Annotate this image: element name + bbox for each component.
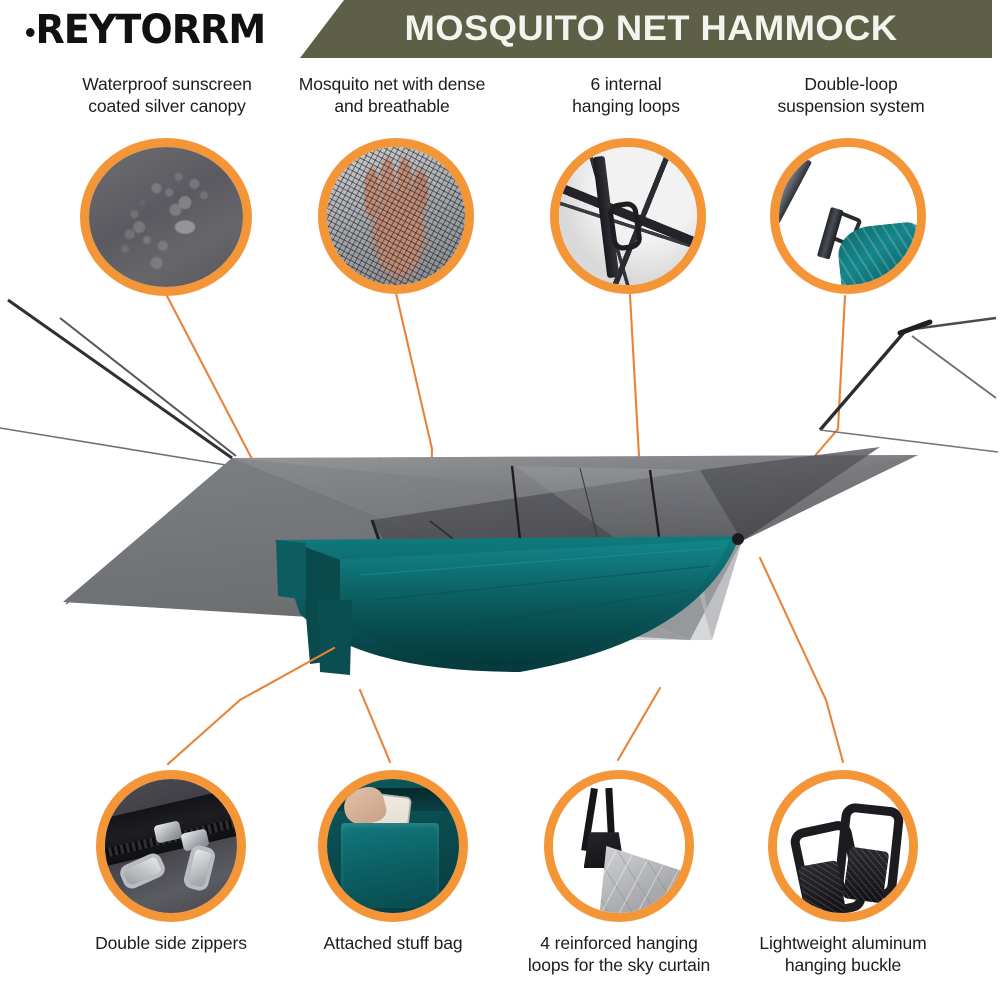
callout-label-line2: and breathable <box>272 95 512 117</box>
pointer-line-reinforced-hanging-loops <box>618 688 660 760</box>
callout-label-line2: suspension system <box>742 95 960 117</box>
pointer-line-double-loop-suspension <box>742 296 845 541</box>
mosquito-net <box>372 447 880 640</box>
callout-image-aluminum-buckle[interactable] <box>768 770 918 922</box>
stuff-bag-icon <box>325 777 461 915</box>
callout-label-internal-loops: 6 internal hanging loops <box>528 73 724 117</box>
callout-image-reinforced-hanging-loops[interactable] <box>544 770 694 922</box>
pointer-line-group-bottom <box>168 558 843 764</box>
pointer-line-mosquito-net <box>396 293 432 521</box>
callout-image-attached-stuff-bag[interactable] <box>318 770 468 922</box>
reinforced-hanging-loops-photo <box>551 777 687 915</box>
pointer-line-waterproof-canopy <box>167 296 253 461</box>
callout-label-line1: Double-loop <box>742 73 960 95</box>
pointer-line-internal-loops <box>630 295 640 474</box>
callout-image-internal-loops[interactable] <box>550 138 706 294</box>
suspension-strap-icon <box>777 145 919 287</box>
callout-image-double-loop-suspension[interactable] <box>770 138 926 294</box>
callout-label-aluminum-buckle: Lightweight aluminum hanging buckle <box>730 932 956 976</box>
tarp-loop-icon <box>551 777 687 915</box>
internal-loop-icon <box>557 145 699 287</box>
callout-label-line1: Attached stuff bag <box>282 932 504 954</box>
tarp-corner-fabric <box>600 846 687 915</box>
hammock-body <box>275 533 744 675</box>
water-droplets-icon <box>87 145 245 289</box>
pointer-line-double-side-zippers <box>168 648 334 764</box>
header: REYTORRM MOSQUITO NET HAMMOCK <box>0 0 1000 62</box>
callout-label-line1: 4 reinforced hanging <box>504 932 734 954</box>
mesh-hand-icon <box>325 145 467 287</box>
guy-lines <box>0 300 998 604</box>
internal-loops-photo <box>557 145 699 287</box>
double-side-zippers-photo <box>103 777 239 915</box>
logo-dot-icon <box>26 28 35 37</box>
callout-image-double-side-zippers[interactable] <box>96 770 246 922</box>
callout-label-line1: Waterproof sunscreen <box>52 73 282 95</box>
callout-image-waterproof-canopy[interactable] <box>80 138 252 296</box>
webbing-right <box>842 846 889 903</box>
attached-stuff-bag-photo <box>325 777 461 915</box>
callout-label-reinforced-hanging-loops: 4 reinforced hanging loops for the sky c… <box>504 932 734 976</box>
callout-label-line2: coated silver canopy <box>52 95 282 117</box>
aluminum-buckle-photo <box>775 777 911 915</box>
brand-logo: REYTORRM <box>26 8 292 52</box>
waterproof-canopy-photo <box>87 145 245 289</box>
zipper-icon <box>103 777 239 915</box>
suspension-strap-upper <box>777 154 812 240</box>
callout-label-line1: 6 internal <box>528 73 724 95</box>
callout-label-line1: Lightweight aluminum <box>730 932 956 954</box>
pointer-line-group-top <box>167 293 845 541</box>
loop-hook <box>606 200 642 252</box>
callout-label-line1: Mosquito net with dense <box>272 73 512 95</box>
mosquito-net-photo <box>325 145 467 287</box>
page-title: MOSQUITO NET HAMMOCK <box>323 0 978 58</box>
callout-label-waterproof-canopy: Waterproof sunscreen coated silver canop… <box>52 73 282 117</box>
double-loop-suspension-photo <box>777 145 919 287</box>
callout-label-mosquito-net: Mosquito net with dense and breathable <box>272 73 512 117</box>
carabiner-icon <box>775 777 911 915</box>
callout-label-line2: loops for the sky curtain <box>504 954 734 976</box>
pointer-line-aluminum-buckle <box>760 558 843 762</box>
callout-label-attached-stuff-bag: Attached stuff bag <box>282 932 504 954</box>
rain-tarp <box>63 455 918 640</box>
callout-label-line1: Double side zippers <box>56 932 286 954</box>
callout-label-line2: hanging buckle <box>730 954 956 976</box>
callout-image-mosquito-net[interactable] <box>318 138 474 294</box>
pointer-line-attached-stuff-bag <box>360 690 390 762</box>
callout-label-double-loop-suspension: Double-loop suspension system <box>742 73 960 117</box>
callout-label-line2: hanging loops <box>528 95 724 117</box>
infographic-canvas: REYTORRM MOSQUITO NET HAMMOCK <box>0 0 1000 1000</box>
bag-pocket <box>341 823 439 909</box>
callout-label-double-side-zippers: Double side zippers <box>56 932 286 954</box>
brand-logo-text: REYTORRM <box>36 7 266 53</box>
